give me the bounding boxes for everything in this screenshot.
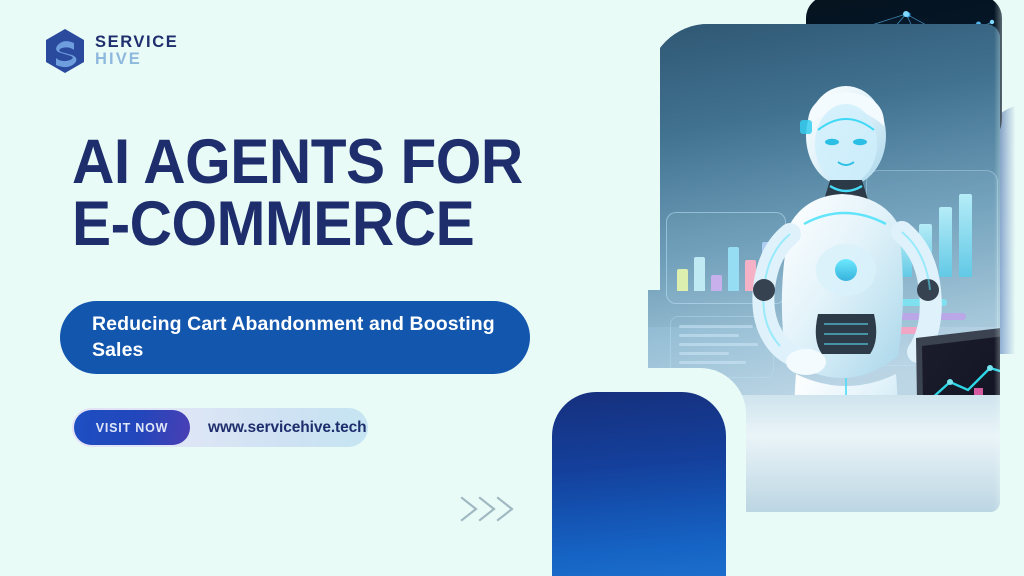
brand-logo-text: SERVICE HIVE xyxy=(95,34,178,68)
call-to-action[interactable]: VISIT NOW www.servicehive.tech xyxy=(72,408,367,447)
subtitle-banner: Reducing Cart Abandonment and Boosting S… xyxy=(60,301,530,374)
headline-line-1: AI AGENTS FOR xyxy=(72,131,523,193)
hexagon-s-logo-icon xyxy=(44,28,86,74)
blue-accent-card xyxy=(552,392,726,576)
page-title: AI AGENTS FOR E-COMMERCE xyxy=(72,131,523,256)
artwork-region xyxy=(540,0,1024,576)
website-url[interactable]: www.servicehive.tech xyxy=(208,419,367,437)
brand-logo[interactable]: SERVICE HIVE xyxy=(44,28,178,74)
triple-chevron-right-icon xyxy=(458,492,520,526)
headline-line-2: E-COMMERCE xyxy=(72,193,523,255)
promo-banner: SERVICE HIVE AI AGENTS FOR E-COMMERCE Re… xyxy=(0,0,1024,576)
right-edge-fade xyxy=(994,0,1024,576)
brand-name-line1: SERVICE xyxy=(95,34,178,51)
brand-name-line2: HIVE xyxy=(95,51,178,68)
mint-left-mask xyxy=(510,0,660,290)
visit-now-button[interactable]: VISIT NOW xyxy=(74,410,190,445)
subtitle-text: Reducing Cart Abandonment and Boosting S… xyxy=(92,312,506,363)
